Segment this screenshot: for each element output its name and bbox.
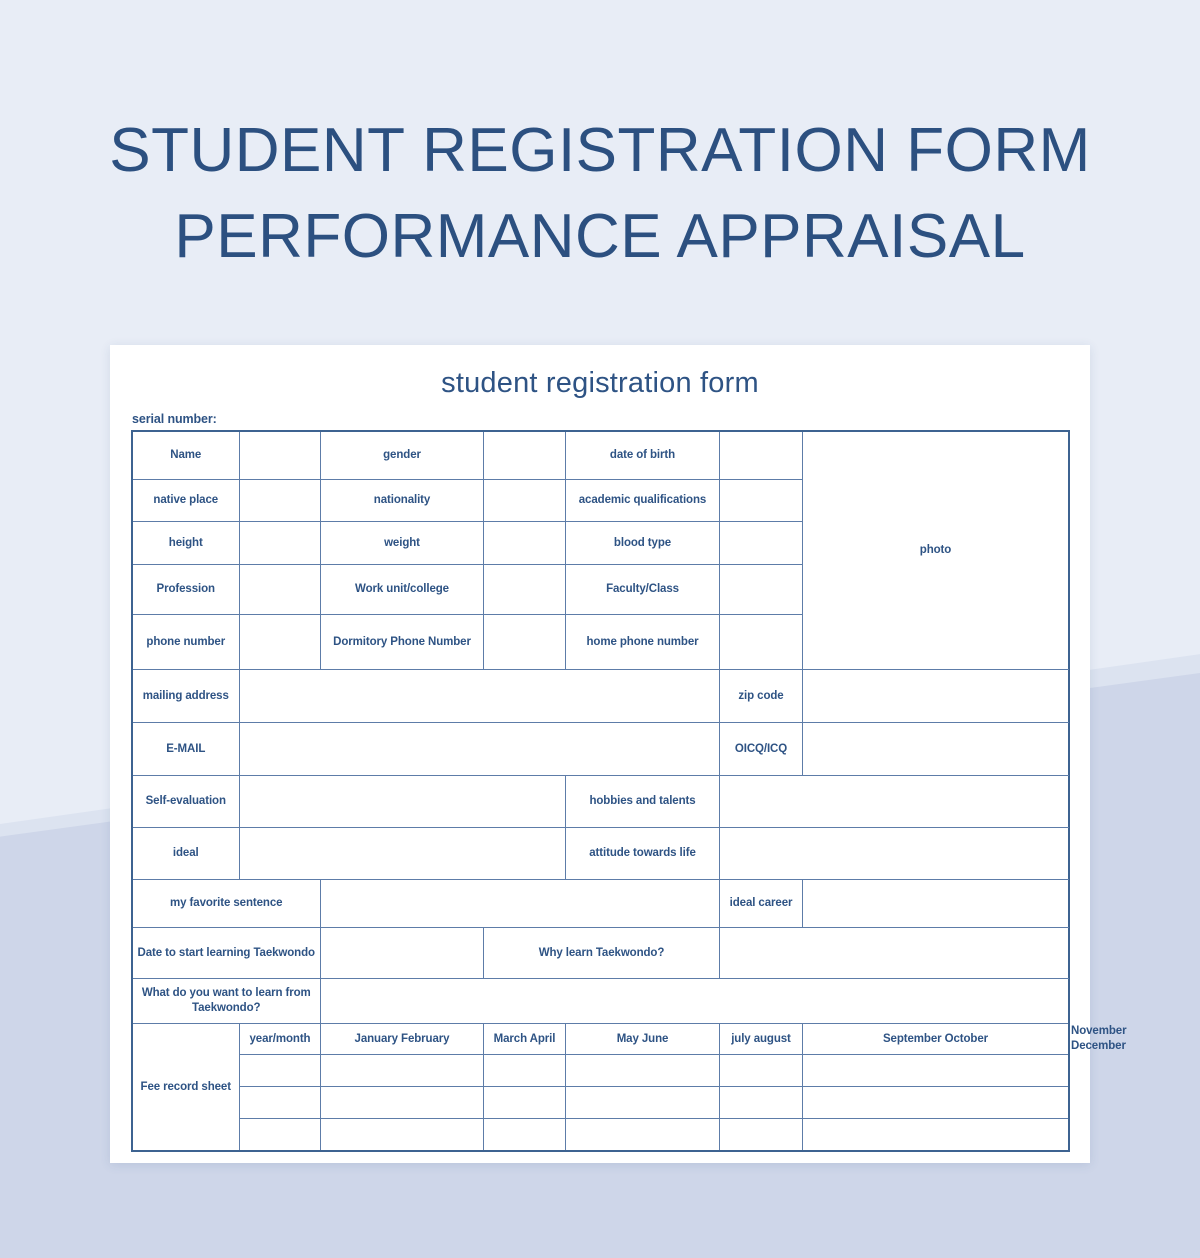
fee-cell[interactable] [240,1087,321,1119]
input-attitude-towards-life[interactable] [720,828,1069,880]
label-email: E-MAIL [132,723,240,776]
input-profession[interactable] [240,565,321,615]
input-taekwondo-start-date[interactable] [321,928,484,979]
input-self-evaluation[interactable] [240,776,566,828]
fee-cell[interactable] [566,1055,720,1087]
fee-cell[interactable] [803,1087,1069,1119]
table-row: my favorite sentence ideal career [132,880,1069,928]
input-blood-type[interactable] [720,522,803,565]
input-what-learn-from-taekwondo[interactable] [321,979,1069,1024]
table-row: mailing address zip code [132,670,1069,723]
label-weight: weight [321,522,484,565]
input-name[interactable] [240,431,321,480]
input-hobbies-and-talents[interactable] [720,776,1069,828]
input-home-phone-number[interactable] [720,615,803,670]
input-academic-qualifications[interactable] [720,480,803,522]
fee-cell[interactable] [240,1055,321,1087]
fee-cell[interactable] [566,1087,720,1119]
fee-cell[interactable] [484,1119,566,1152]
input-my-favorite-sentence[interactable] [321,880,720,928]
fee-header-may-jun: May June [566,1024,720,1055]
fee-cell[interactable] [803,1119,1069,1152]
form-card: student registration form serial number:… [110,345,1090,1163]
fee-cell[interactable] [484,1087,566,1119]
label-name: Name [132,431,240,480]
input-phone-number[interactable] [240,615,321,670]
table-row: Self-evaluation hobbies and talents [132,776,1069,828]
fee-cell[interactable] [484,1055,566,1087]
table-row: Fee record sheet year/month January Febr… [132,1024,1069,1055]
table-row: Name gender date of birth photo [132,431,1069,480]
label-why-learn-taekwondo: Why learn Taekwondo? [484,928,720,979]
table-row: E-MAIL OICQ/ICQ [132,723,1069,776]
input-email[interactable] [240,723,720,776]
form-title: student registration form [110,345,1090,400]
input-native-place[interactable] [240,480,321,522]
input-mailing-address[interactable] [240,670,720,723]
label-attitude-towards-life: attitude towards life [566,828,720,880]
label-photo[interactable]: photo [803,431,1069,670]
serial-number-label: serial number: [110,400,1090,426]
label-taekwondo-start-date: Date to start learning Taekwondo [132,928,321,979]
label-native-place: native place [132,480,240,522]
table-row [132,1119,1069,1152]
label-dormitory-phone-number: Dormitory Phone Number [321,615,484,670]
fee-cell[interactable] [720,1119,803,1152]
label-hobbies-and-talents: hobbies and talents [566,776,720,828]
fee-cell[interactable] [566,1119,720,1152]
label-my-favorite-sentence: my favorite sentence [132,880,321,928]
input-ideal-career[interactable] [803,880,1069,928]
input-oicq-icq[interactable] [803,723,1069,776]
fee-cell[interactable] [803,1055,1069,1087]
label-phone-number: phone number [132,615,240,670]
label-fee-record-sheet: Fee record sheet [132,1024,240,1152]
fee-cell[interactable] [321,1055,484,1087]
fee-header-mar-apr: March April [484,1024,566,1055]
fee-header-year-month: year/month [240,1024,321,1055]
input-date-of-birth[interactable] [720,431,803,480]
table-row [132,1055,1069,1087]
input-dormitory-phone-number[interactable] [484,615,566,670]
fee-cell[interactable] [321,1119,484,1152]
fee-cell[interactable] [720,1055,803,1087]
label-ideal: ideal [132,828,240,880]
table-row: Date to start learning Taekwondo Why lea… [132,928,1069,979]
label-mailing-address: mailing address [132,670,240,723]
input-why-learn-taekwondo[interactable] [720,928,1069,979]
label-faculty-class: Faculty/Class [566,565,720,615]
fee-cell[interactable] [321,1087,484,1119]
label-oicq-icq: OICQ/ICQ [720,723,803,776]
label-gender: gender [321,431,484,480]
label-home-phone-number: home phone number [566,615,720,670]
fee-header-sep-oct: September October [803,1024,1069,1055]
label-profession: Profession [132,565,240,615]
label-blood-type: blood type [566,522,720,565]
student-registration-table: Name gender date of birth photo native p… [131,430,1070,1152]
label-ideal-career: ideal career [720,880,803,928]
page-title: STUDENT REGISTRATION FORM PERFORMANCE AP… [0,0,1200,280]
label-zip-code: zip code [720,670,803,723]
label-nationality: nationality [321,480,484,522]
label-date-of-birth: date of birth [566,431,720,480]
label-self-evaluation: Self-evaluation [132,776,240,828]
label-academic-qualifications: academic qualifications [566,480,720,522]
input-weight[interactable] [484,522,566,565]
input-zip-code[interactable] [803,670,1069,723]
table-row [132,1087,1069,1119]
fee-cell[interactable] [240,1119,321,1152]
fee-header-jul-aug: july august [720,1024,803,1055]
input-faculty-class[interactable] [720,565,803,615]
input-height[interactable] [240,522,321,565]
table-row: What do you want to learn from Taekwondo… [132,979,1069,1024]
input-ideal[interactable] [240,828,566,880]
label-work-unit-college: Work unit/college [321,565,484,615]
fee-cell[interactable] [720,1087,803,1119]
input-nationality[interactable] [484,480,566,522]
fee-header-jan-feb: January February [321,1024,484,1055]
label-height: height [132,522,240,565]
input-work-unit-college[interactable] [484,565,566,615]
table-row: ideal attitude towards life [132,828,1069,880]
label-what-learn-from-taekwondo: What do you want to learn from Taekwondo… [132,979,321,1024]
input-gender[interactable] [484,431,566,480]
